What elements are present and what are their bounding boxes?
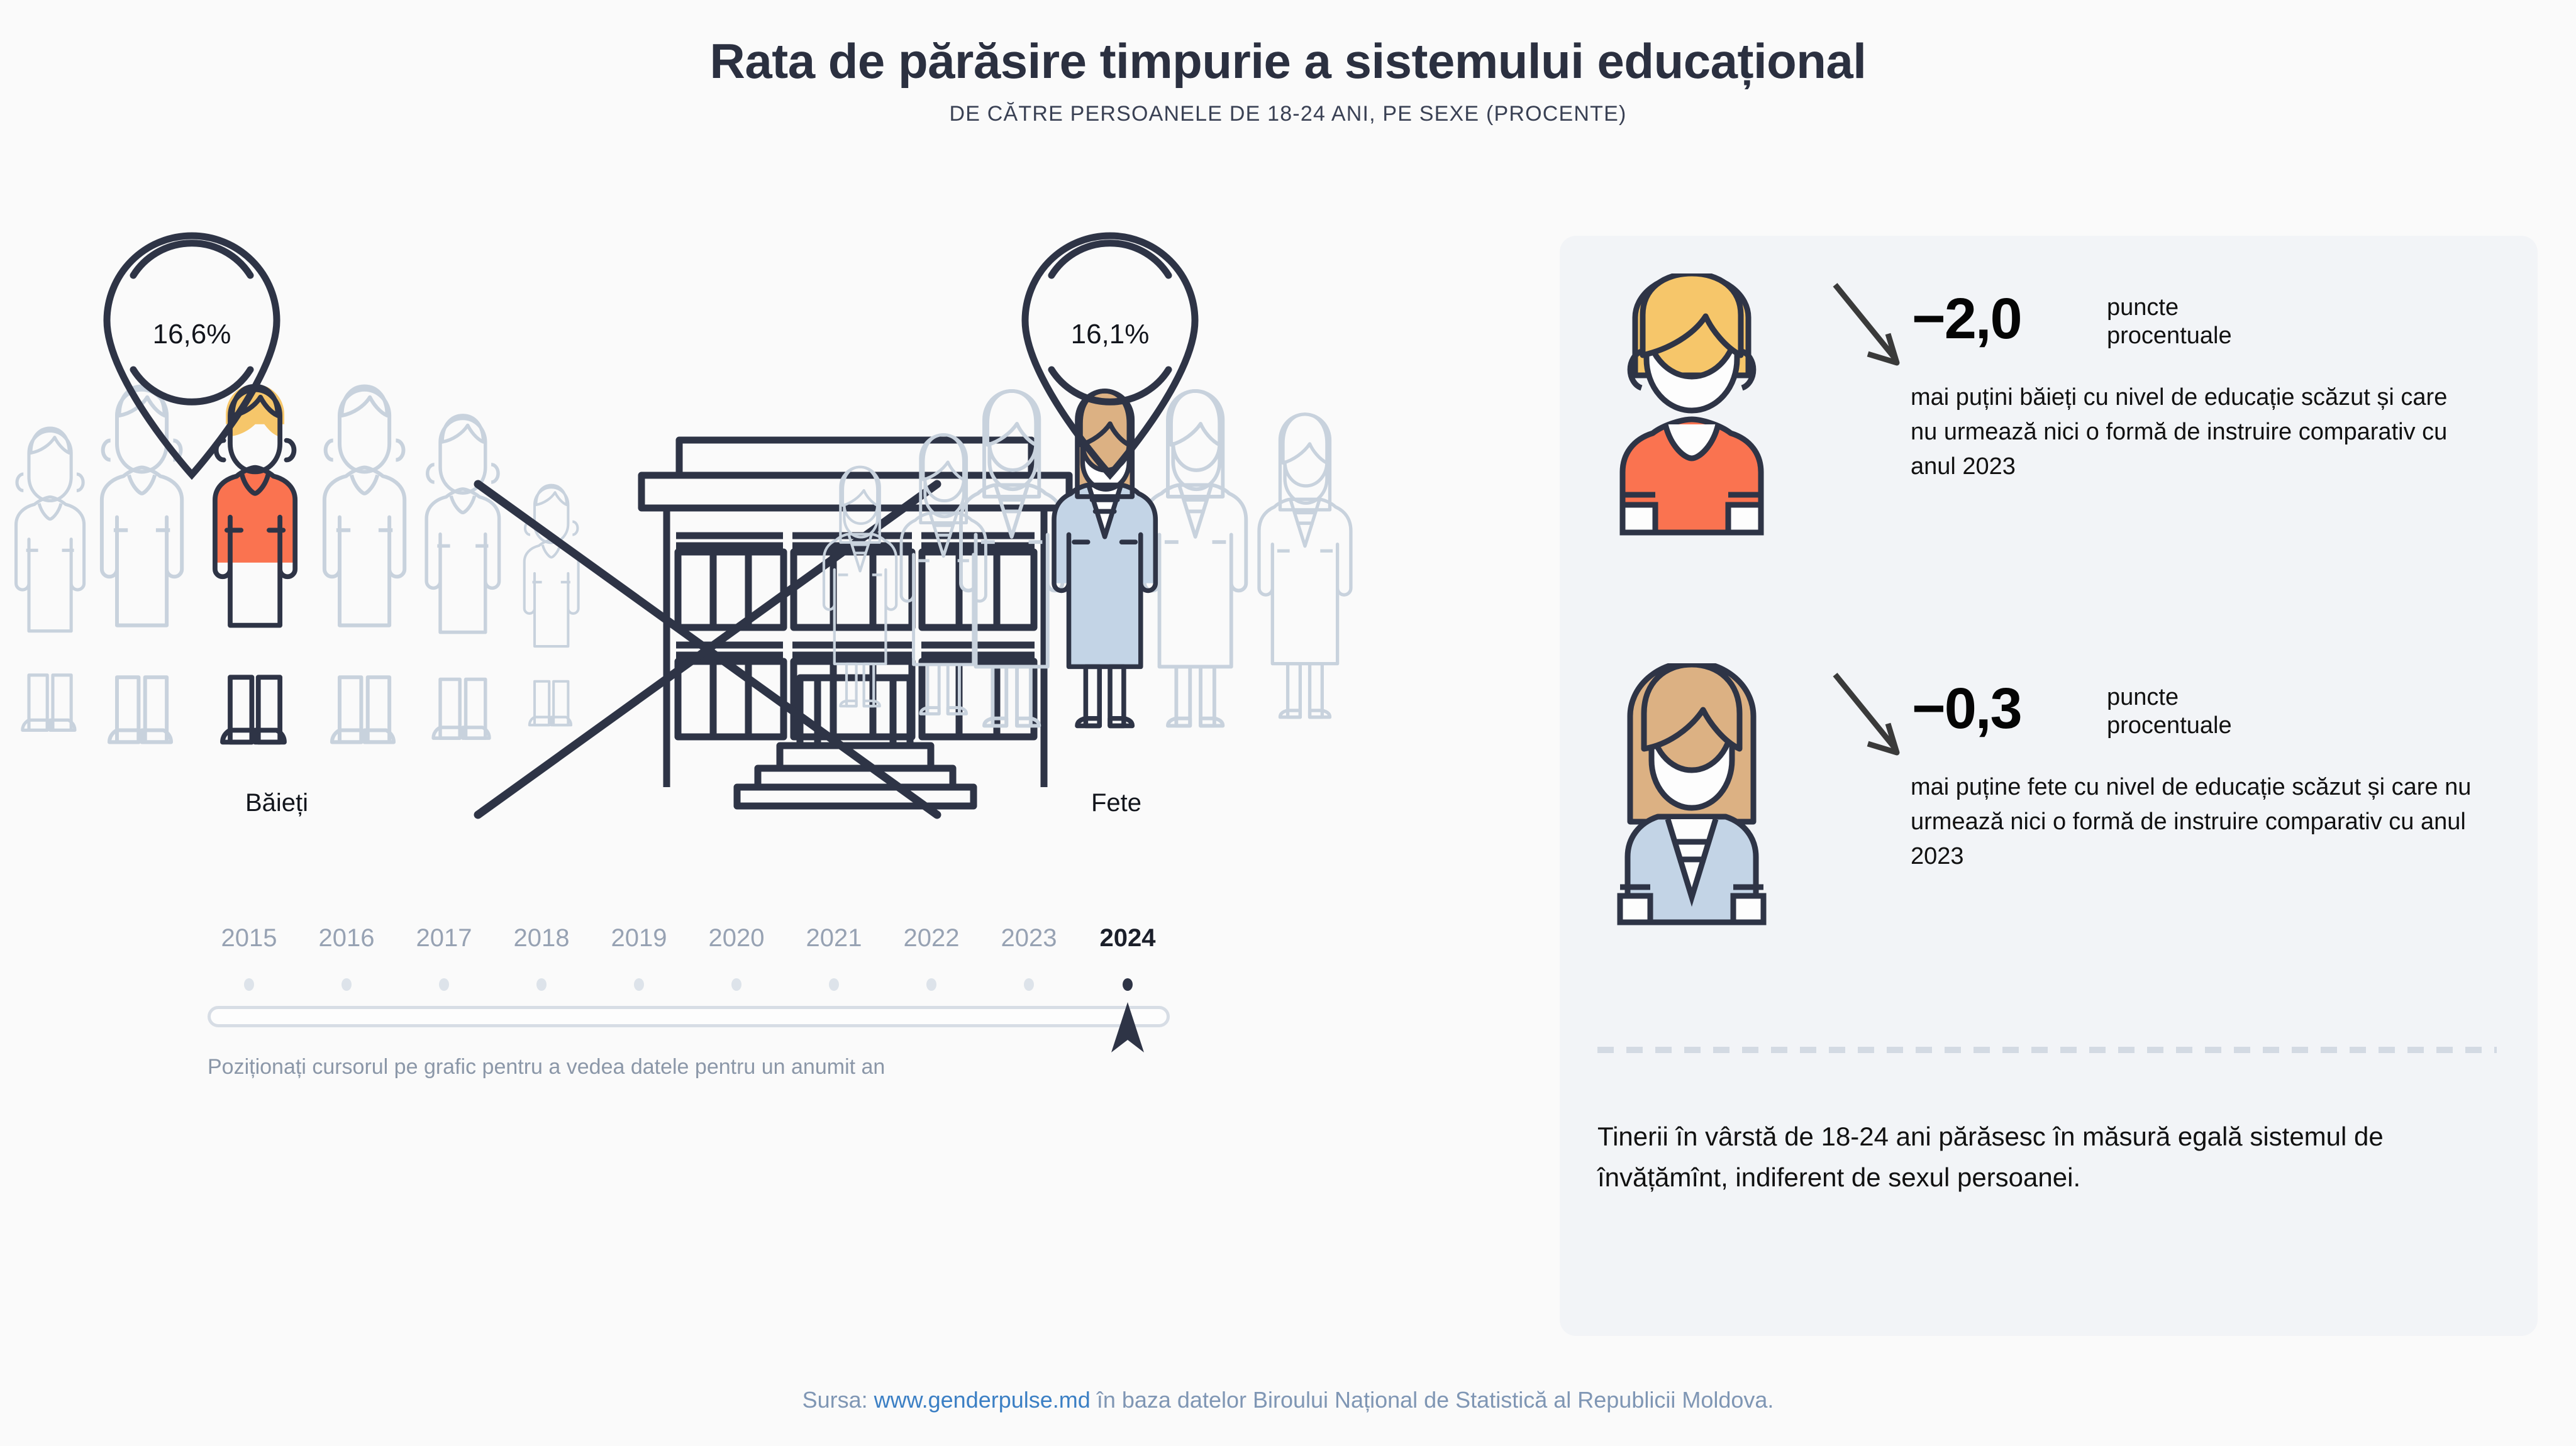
year-tick-2023[interactable] — [1024, 978, 1034, 991]
slider-track[interactable] — [208, 1006, 1170, 1027]
source-prefix: Sursa: — [802, 1387, 874, 1413]
stat-unit-line1-boys: puncte — [2107, 294, 2179, 321]
highlighted-boy — [215, 384, 295, 742]
source-note: Sursa: www.genderpulse.md în baza datelo… — [0, 1387, 2576, 1413]
group-label-boys: Băieți — [151, 789, 402, 817]
page-title: Rata de părăsire timpurie a sistemului e… — [0, 33, 2576, 90]
year-ticks — [208, 978, 1170, 992]
slider-handle[interactable] — [1108, 998, 1148, 1059]
year-label-2017[interactable]: 2017 — [416, 924, 472, 952]
boy-avatar — [1597, 273, 1786, 538]
year-label-2018[interactable]: 2018 — [514, 924, 570, 952]
stat-value-boys: −2,0 — [1912, 286, 2021, 352]
group-label-girls: Fete — [991, 789, 1242, 817]
pin-girls-label: 16,1% — [1025, 248, 1195, 437]
year-label-2016[interactable]: 2016 — [319, 924, 375, 952]
year-tick-2017[interactable] — [439, 978, 449, 991]
year-tick-2019[interactable] — [634, 978, 644, 991]
pin-boys-value: 16,6% — [107, 319, 277, 350]
girl-avatar — [1597, 663, 1786, 927]
year-tick-2022[interactable] — [926, 978, 936, 991]
trend-down-arrow-icon — [1830, 280, 1912, 374]
year-label-2023[interactable]: 2023 — [1001, 924, 1057, 952]
year-tick-2016[interactable] — [341, 978, 352, 991]
source-suffix: în baza datelor Biroului Național de Sta… — [1091, 1387, 1774, 1413]
year-tick-2021[interactable] — [829, 978, 839, 991]
panel-conclusion: Tinerii în vârstă de 18-24 ani părăsesc … — [1597, 1116, 2490, 1198]
year-label-2019[interactable]: 2019 — [611, 924, 667, 952]
page-subtitle: DE CĂTRE PERSOANELE DE 18-24 ANI, PE SEX… — [0, 102, 2576, 126]
ghost-boys — [16, 387, 579, 742]
ghost-girls — [824, 391, 1351, 726]
year-label-2015[interactable]: 2015 — [221, 924, 277, 952]
summary-panel: −2,0 puncte procentuale mai puțini băieț… — [1560, 236, 2538, 1336]
year-tick-2020[interactable] — [731, 978, 741, 991]
pin-boys-label: 16,6% — [107, 248, 277, 437]
year-label-2021[interactable]: 2021 — [806, 924, 862, 952]
stat-unit-girls: puncte procentuale — [2107, 683, 2232, 740]
year-tick-2018[interactable] — [536, 978, 547, 991]
panel-divider — [1597, 1047, 2497, 1053]
stat-unit-line2-boys: procentuale — [2107, 323, 2232, 349]
year-label-2024[interactable]: 2024 — [1100, 924, 1156, 952]
highlighted-girl — [1054, 391, 1155, 726]
stat-unit-line1-girls: puncte — [2107, 684, 2179, 710]
cursor-arrow-icon[interactable] — [1108, 998, 1148, 1059]
year-labels: 2015 2016 2017 2018 2019 2020 2021 2022 … — [208, 924, 1170, 959]
year-slider[interactable]: 2015 2016 2017 2018 2019 2020 2021 2022 … — [208, 924, 1170, 1088]
year-label-2020[interactable]: 2020 — [709, 924, 765, 952]
school-building — [641, 440, 1069, 806]
stat-description-girls: mai puține fete cu nivel de educație scă… — [1911, 770, 2477, 874]
stat-unit-line2-girls: procentuale — [2107, 712, 2232, 739]
stat-unit-boys: puncte procentuale — [2107, 294, 2232, 350]
trend-down-arrow-icon — [1830, 670, 1912, 764]
stat-value-girls: −0,3 — [1912, 676, 2021, 742]
stat-description-boys: mai puțini băieți cu nivel de educație s… — [1911, 380, 2477, 484]
slider-hint: Poziționați cursorul pe grafic pentru a … — [208, 1055, 885, 1079]
cross-out-x — [478, 484, 937, 815]
year-tick-2024[interactable] — [1123, 978, 1133, 991]
year-tick-2015[interactable] — [244, 978, 254, 991]
source-link[interactable]: www.genderpulse.md — [874, 1387, 1091, 1413]
year-label-2022[interactable]: 2022 — [904, 924, 960, 952]
pin-girls-value: 16,1% — [1025, 319, 1195, 350]
infographic-root: Rata de părăsire timpurie a sistemului e… — [0, 0, 2576, 1446]
